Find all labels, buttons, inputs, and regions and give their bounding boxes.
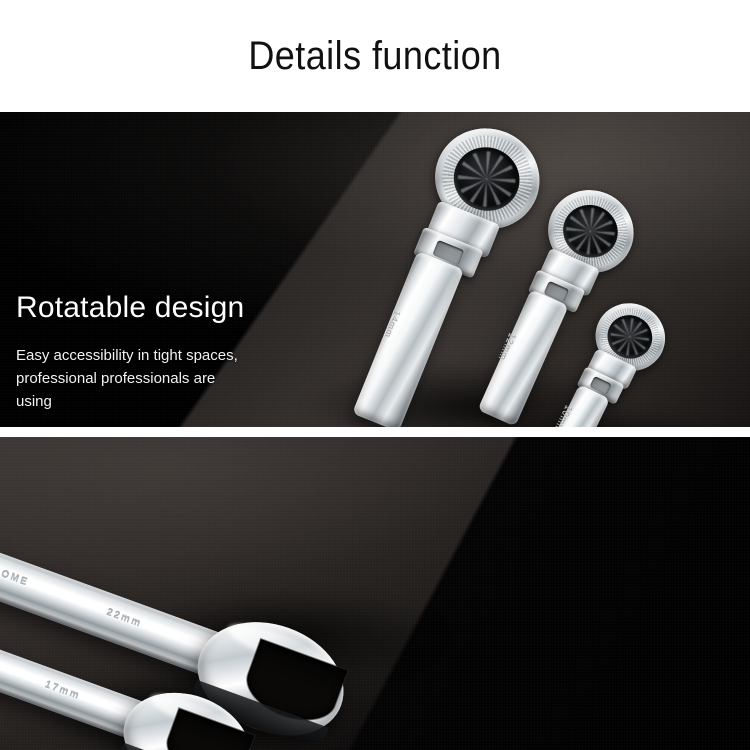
page-title: Details function (38, 30, 713, 82)
body-line: Easy accessibility in tight spaces, (16, 344, 316, 367)
handle-size-stamp: 10mm (553, 404, 575, 427)
size-engraving: 17mm (43, 680, 81, 703)
body-line: professional professionals are (16, 367, 316, 390)
body-line: using (16, 390, 316, 413)
header-band: Details function (0, 0, 750, 112)
panel-patent-driven-design: CHROME 22mm CHROME 17mm (0, 437, 750, 750)
handle-size-stamp: 14mm (382, 309, 402, 340)
handle-size-stamp: 12mm (498, 332, 519, 363)
rotatable-design-copy: Rotatable design Easy accessibility in t… (16, 290, 316, 413)
product-detail-image: Details function 14mm (0, 0, 750, 750)
panel-rotatable-design: 14mm 12mm (0, 112, 750, 427)
rotatable-design-body: Easy accessibility in tight spaces, prof… (16, 344, 316, 413)
rotatable-design-headline: Rotatable design (16, 290, 316, 326)
chrome-engraving: CHROME (0, 559, 30, 589)
size-engraving: 22mm (105, 607, 143, 630)
